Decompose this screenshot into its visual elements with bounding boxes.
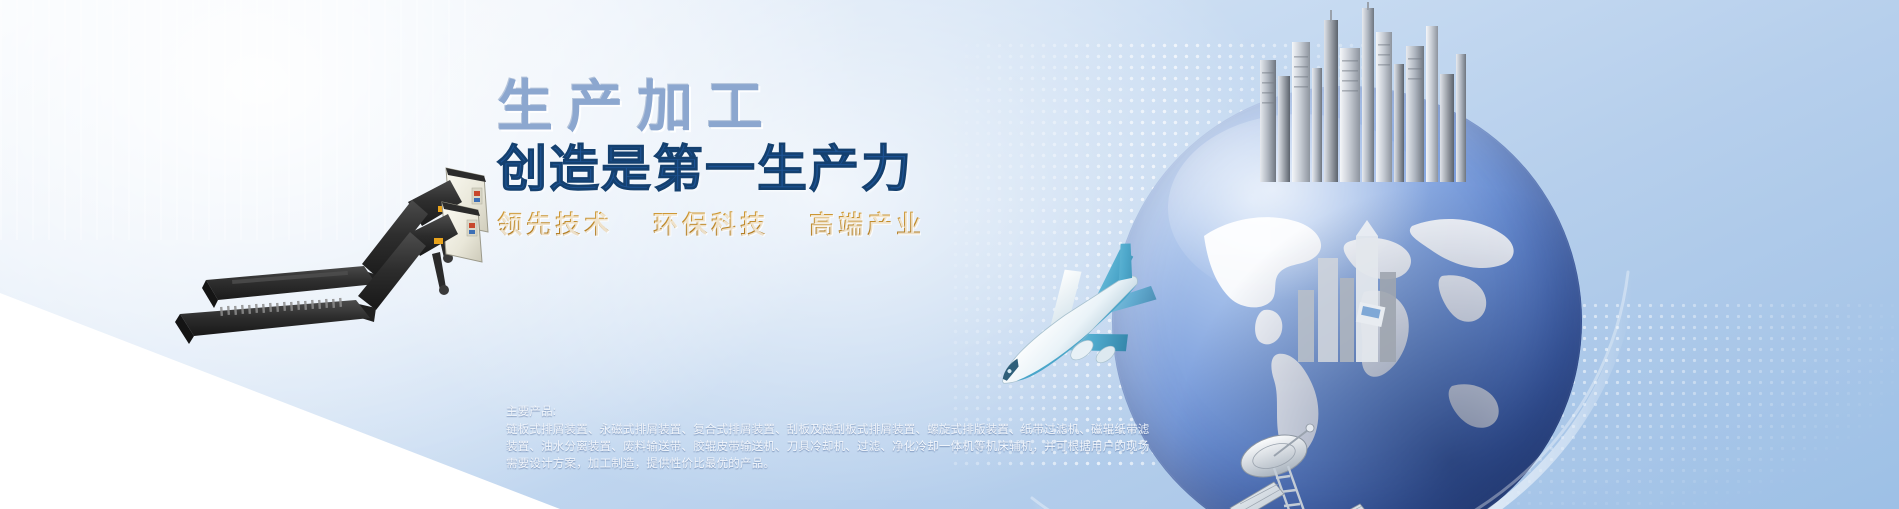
tagline-item-0: 领先技术 [497, 205, 613, 241]
airplane-graphic [962, 236, 1192, 416]
headline-block: 生产加工 创造是第一生产力 领先技术 环保科技 高端产业 [497, 78, 967, 241]
product-description: 主要产品: 链板式排屑装置、永磁式排屑装置、复合式排屑装置、刮板及磁刮板式排屑装… [506, 404, 1161, 473]
promo-banner: 生产加工 创造是第一生产力 领先技术 环保科技 高端产业 主要产品: 链板式排屑… [0, 0, 1899, 509]
satellite-graphic [1212, 416, 1402, 509]
page-title: 生产加工 [497, 78, 967, 137]
description-body: 链板式排屑装置、永磁式排屑装置、复合式排屑装置、刮板及磁刮板式排屑装置、螺旋式排… [506, 422, 1161, 473]
tagline-row: 领先技术 环保科技 高端产业 [497, 205, 967, 241]
city-skyline-graphic [1242, 2, 1492, 182]
description-lead: 主要产品: [506, 404, 1161, 421]
globe-inner-buildings [1262, 206, 1452, 406]
tagline-item-1: 环保科技 [653, 205, 769, 241]
tagline-item-2: 高端产业 [809, 205, 925, 241]
headline-secondary: 创造是第一生产力 [497, 143, 967, 196]
globe-graphic [1112, 86, 1582, 509]
chip-conveyor-machine-lower [120, 196, 500, 386]
